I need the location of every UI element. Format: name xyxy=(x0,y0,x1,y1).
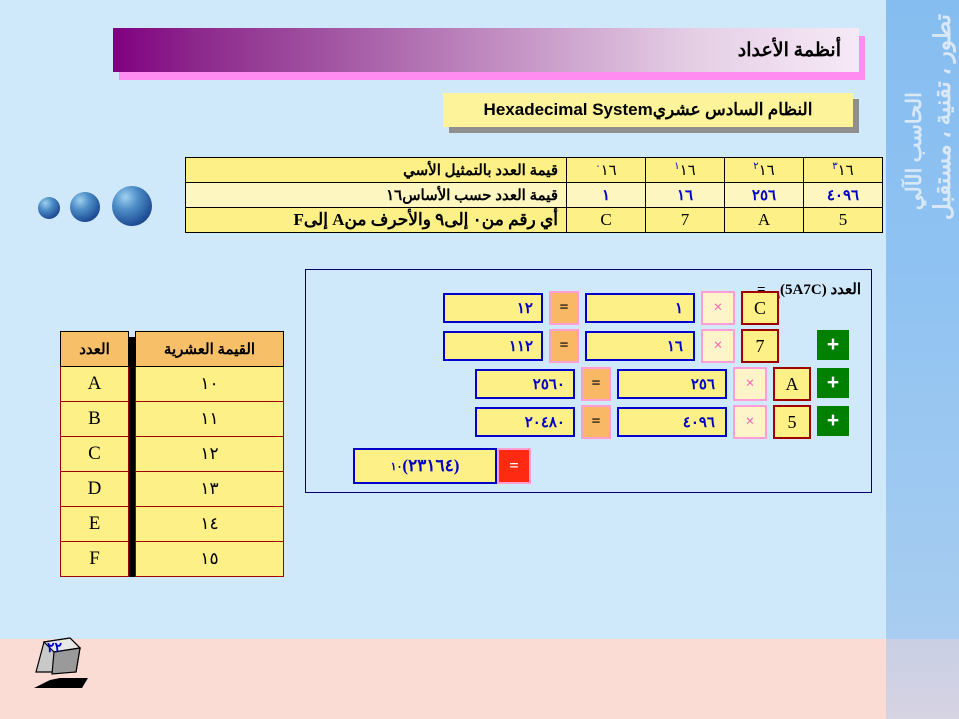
calc-row: 5 × ٤٠٩٦ = ٢٠٤٨٠ xyxy=(475,406,811,438)
calc-digit-c: C xyxy=(741,291,779,325)
column-gap xyxy=(129,437,136,472)
equals-icon: = xyxy=(549,329,579,363)
calc-digit-5: 5 xyxy=(773,405,811,439)
subtitle-english: Hexadecimal System xyxy=(484,100,653,119)
table-row: ١٢ C xyxy=(61,437,284,472)
slide-number: ٢٢ xyxy=(47,640,62,657)
keycap-icon xyxy=(30,630,110,690)
base-value-4096: ٤٠٩٦ xyxy=(804,183,883,208)
decimal-value-b: ١١ xyxy=(136,402,284,437)
calc-weight-4096: ٤٠٩٦ xyxy=(617,407,727,437)
multiply-icon: × xyxy=(733,405,767,439)
multiply-icon: × xyxy=(701,329,735,363)
column-gap xyxy=(129,332,136,367)
calc-digit-a: A xyxy=(773,367,811,401)
conversion-calculation-panel: العدد (5A7C)١٦ = C × ١ = ١٢ 7 × ١٦ = ١١٢… xyxy=(305,269,872,493)
plus-icon: + xyxy=(817,406,849,436)
decimal-value-f: ١٥ xyxy=(136,542,284,577)
power-cell-3: ٣١٦ xyxy=(804,158,883,183)
plus-icon: + xyxy=(817,330,849,360)
decimal-value-c: ١٢ xyxy=(136,437,284,472)
column-header-number: العدد xyxy=(61,332,129,367)
subtitle-box: النظام السادس عشريHexadecimal System xyxy=(443,93,853,127)
page-title: أنظمة الأعداد xyxy=(738,39,841,62)
digit-cell-a: A xyxy=(725,208,804,233)
calc-result-2560: ٢٥٦٠ xyxy=(475,369,575,399)
column-gap xyxy=(129,472,136,507)
hex-letter-d: D xyxy=(61,472,129,507)
digit-cell-5: 5 xyxy=(804,208,883,233)
powers-of-16-table: ٣١٦ ٢١٦ ١١٦ ٠١٦ قيمة العدد بالتمثيل الأس… xyxy=(185,157,883,233)
table-row: ١٤ E xyxy=(61,507,284,542)
table-row: ١٥ F xyxy=(61,542,284,577)
calc-weight-1: ١ xyxy=(585,293,695,323)
calc-heading-label: العدد (5A7C) xyxy=(780,282,861,298)
hex-letter-b: B xyxy=(61,402,129,437)
calc-result-12: ١٢ xyxy=(443,293,543,323)
decimal-value-a: ١٠ xyxy=(136,367,284,402)
sphere-bullet-large xyxy=(112,186,152,226)
hex-letter-c: C xyxy=(61,437,129,472)
column-gap xyxy=(129,367,136,402)
rail-subject-text: الحاسب الآلي xyxy=(902,92,927,210)
column-gap xyxy=(129,507,136,542)
hex-to-decimal-table: القيمة العشرية العدد ١٠ A ١١ B ١٢ C ١٣ D… xyxy=(60,331,284,577)
sphere-bullet-small xyxy=(38,197,60,219)
calc-result-112: ١١٢ xyxy=(443,331,543,361)
calc-result-20480: ٢٠٤٨٠ xyxy=(475,407,575,437)
rail-tagline-text: تطور ، تقنية ، مستقبل xyxy=(930,14,956,220)
power-cell-2: ٢١٦ xyxy=(725,158,804,183)
digit-cell-c: C xyxy=(567,208,646,233)
equals-icon: = xyxy=(549,291,579,325)
bottom-decorative-band xyxy=(0,639,886,719)
row-label-digit-range: أي رقم من٠ إلى٩ والأحرف منA إلىF xyxy=(186,208,567,233)
title-banner: أنظمة الأعداد xyxy=(113,28,859,72)
hex-letter-a: A xyxy=(61,367,129,402)
decimal-value-e: ١٤ xyxy=(136,507,284,542)
table-row: ٣١٦ ٢١٦ ١١٦ ٠١٦ قيمة العدد بالتمثيل الأس… xyxy=(186,158,883,183)
row-label-exponential: قيمة العدد بالتمثيل الأسي xyxy=(186,158,567,183)
total-equals-icon: = xyxy=(497,448,531,484)
base-value-1: ١ xyxy=(567,183,646,208)
equals-icon: = xyxy=(581,367,611,401)
row-label-base-16: قيمة العدد حسب الأساس١٦ xyxy=(186,183,567,208)
table-row: ١١ B xyxy=(61,402,284,437)
multiply-icon: × xyxy=(701,291,735,325)
hex-letter-e: E xyxy=(61,507,129,542)
calc-total-row: = (٢٣١٦٤)١٠ xyxy=(353,448,539,484)
column-gap xyxy=(129,542,136,577)
total-subscript: ١٠ xyxy=(391,460,403,473)
calc-digit-7: 7 xyxy=(741,329,779,363)
base-value-256: ٢٥٦ xyxy=(725,183,804,208)
subtitle-text: النظام السادس عشريHexadecimal System xyxy=(484,100,813,120)
sphere-bullet-medium xyxy=(70,192,100,222)
decimal-value-d: ١٣ xyxy=(136,472,284,507)
right-side-rail-lower xyxy=(886,639,959,719)
table-row: 5 A 7 C أي رقم من٠ إلى٩ والأحرف منA إلىF xyxy=(186,208,883,233)
base-value-16: ١٦ xyxy=(646,183,725,208)
table-header-row: القيمة العشرية العدد xyxy=(61,332,284,367)
equals-icon: = xyxy=(581,405,611,439)
digit-cell-7: 7 xyxy=(646,208,725,233)
column-header-decimal-value: القيمة العشرية xyxy=(136,332,284,367)
table-row: ١٠ A xyxy=(61,367,284,402)
calc-row: 7 × ١٦ = ١١٢ xyxy=(443,330,779,362)
power-cell-1: ١١٦ xyxy=(646,158,725,183)
plus-icon: + xyxy=(817,368,849,398)
multiply-icon: × xyxy=(733,367,767,401)
column-gap xyxy=(129,402,136,437)
hex-letter-f: F xyxy=(61,542,129,577)
calc-row: A × ٢٥٦ = ٢٥٦٠ xyxy=(475,368,811,400)
table-row: ١٣ D xyxy=(61,472,284,507)
calc-total-value: (٢٣١٦٤)١٠ xyxy=(353,448,497,484)
subtitle-arabic: النظام السادس عشري xyxy=(653,100,813,119)
total-number: (٢٣١٦٤) xyxy=(402,456,459,476)
table-row: ٤٠٩٦ ٢٥٦ ١٦ ١ قيمة العدد حسب الأساس١٦ xyxy=(186,183,883,208)
calc-row: C × ١ = ١٢ xyxy=(443,292,779,324)
calc-weight-16: ١٦ xyxy=(585,331,695,361)
calc-weight-256: ٢٥٦ xyxy=(617,369,727,399)
power-cell-0: ٠١٦ xyxy=(567,158,646,183)
